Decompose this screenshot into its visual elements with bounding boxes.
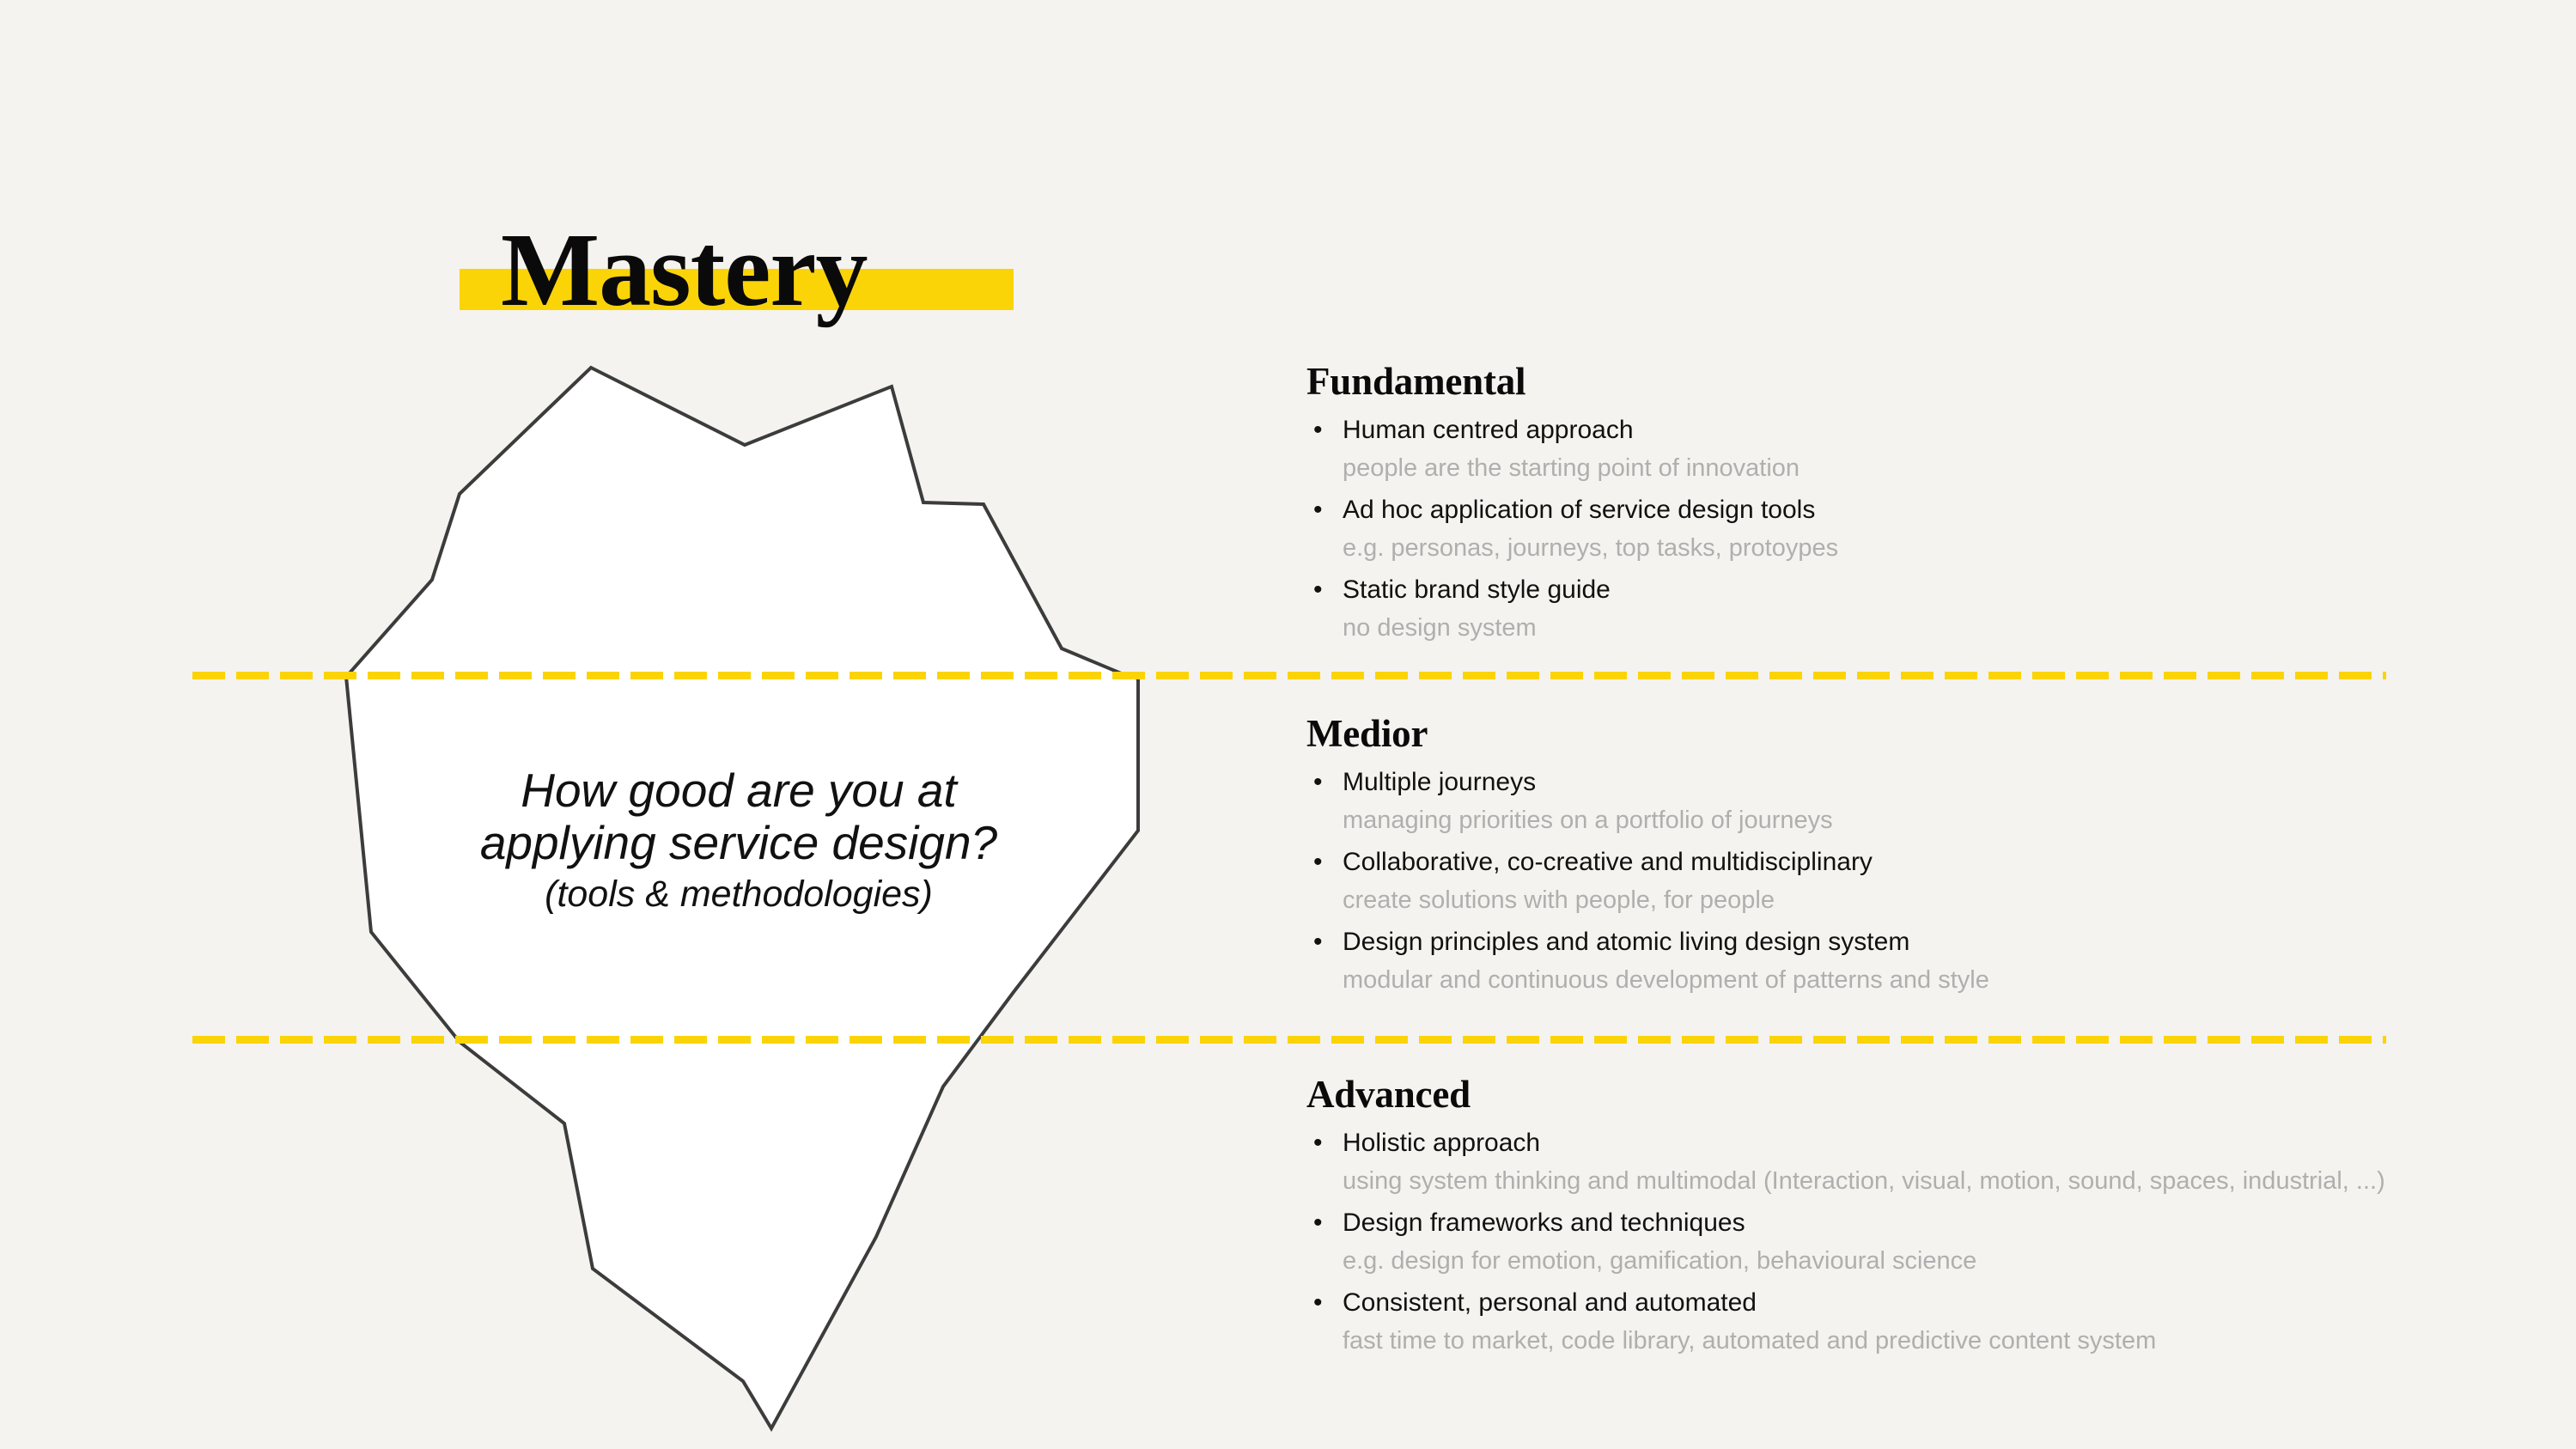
list-item: • Design principles and atomic living de… (1306, 922, 2526, 999)
list-item-description: create solutions with people, for people (1343, 881, 2526, 919)
list-item-row: • Human centred approach (1306, 411, 2526, 449)
bullet-icon: • (1306, 922, 1343, 961)
list-item-description: modular and continuous development of pa… (1343, 961, 2526, 999)
bullet-icon: • (1306, 843, 1343, 881)
bullet-icon: • (1306, 490, 1343, 529)
level-heading-fundamental: Fundamental (1306, 359, 2526, 404)
list-item-row: • Collaborative, co-creative and multidi… (1306, 843, 2526, 881)
list-item: • Holistic approach using system thinkin… (1306, 1123, 2526, 1200)
list-item-title: Design frameworks and techniques (1343, 1203, 2526, 1242)
list-item-description: no design system (1343, 609, 2526, 647)
bullet-icon: • (1306, 570, 1343, 609)
list-item: • Static brand style guide no design sys… (1306, 570, 2526, 647)
list-item: • Design frameworks and techniques e.g. … (1306, 1203, 2526, 1280)
level-section-medior: Medior • Multiple journeys managing prio… (1306, 711, 2526, 1002)
iceberg-question-text: How good are you at applying service des… (369, 764, 1108, 919)
list-item-row: • Consistent, personal and automated (1306, 1283, 2526, 1322)
list-item-row: • Multiple journeys (1306, 763, 2526, 801)
list-item: • Collaborative, co-creative and multidi… (1306, 843, 2526, 919)
list-item-title: Multiple journeys (1343, 763, 2526, 801)
bullet-icon: • (1306, 1283, 1343, 1322)
level-heading-medior: Medior (1306, 711, 2526, 756)
list-item-row: • Ad hoc application of service design t… (1306, 490, 2526, 529)
level-list-medior: • Multiple journeys managing priorities … (1306, 763, 2526, 999)
list-item-description: people are the starting point of innovat… (1343, 449, 2526, 487)
level-section-advanced: Advanced • Holistic approach using syste… (1306, 1072, 2526, 1363)
list-item-description: fast time to market, code library, autom… (1343, 1322, 2526, 1360)
level-list-fundamental: • Human centred approach people are the … (1306, 411, 2526, 647)
page-title: Mastery (501, 218, 868, 323)
list-item-row: • Design frameworks and techniques (1306, 1203, 2526, 1242)
waterline-divider-bottom (192, 1036, 2386, 1044)
question-line-2: applying service design? (369, 817, 1108, 869)
bullet-icon: • (1306, 1203, 1343, 1242)
list-item-title: Consistent, personal and automated (1343, 1283, 2526, 1322)
list-item-row: • Design principles and atomic living de… (1306, 922, 2526, 961)
list-item: • Multiple journeys managing priorities … (1306, 763, 2526, 839)
bullet-icon: • (1306, 763, 1343, 801)
question-subtitle: (tools & methodologies) (369, 869, 1108, 919)
list-item: • Consistent, personal and automated fas… (1306, 1283, 2526, 1360)
level-heading-advanced: Advanced (1306, 1072, 2526, 1117)
list-item: • Ad hoc application of service design t… (1306, 490, 2526, 567)
list-item-title: Holistic approach (1343, 1123, 2526, 1162)
list-item-title: Ad hoc application of service design too… (1343, 490, 2526, 529)
list-item-description: e.g. design for emotion, gamification, b… (1343, 1242, 2526, 1280)
list-item-title: Human centred approach (1343, 411, 2526, 449)
list-item-row: • Holistic approach (1306, 1123, 2526, 1162)
slide-canvas: Mastery How good are you at applying ser… (0, 0, 2576, 1449)
level-list-advanced: • Holistic approach using system thinkin… (1306, 1123, 2526, 1360)
list-item-description: e.g. personas, journeys, top tasks, prot… (1343, 529, 2526, 567)
list-item-title: Static brand style guide (1343, 570, 2526, 609)
list-item-title: Collaborative, co-creative and multidisc… (1343, 843, 2526, 881)
list-item-row: • Static brand style guide (1306, 570, 2526, 609)
list-item: • Human centred approach people are the … (1306, 411, 2526, 487)
waterline-divider-top (192, 672, 2386, 679)
question-line-1: How good are you at (369, 764, 1108, 817)
level-section-fundamental: Fundamental • Human centred approach peo… (1306, 359, 2526, 650)
bullet-icon: • (1306, 1123, 1343, 1162)
list-item-description: managing priorities on a portfolio of jo… (1343, 801, 2526, 839)
page-title-block: Mastery (460, 225, 1147, 337)
list-item-title: Design principles and atomic living desi… (1343, 922, 2526, 961)
bullet-icon: • (1306, 411, 1343, 449)
list-item-description: using system thinking and multimodal (In… (1343, 1162, 2526, 1200)
